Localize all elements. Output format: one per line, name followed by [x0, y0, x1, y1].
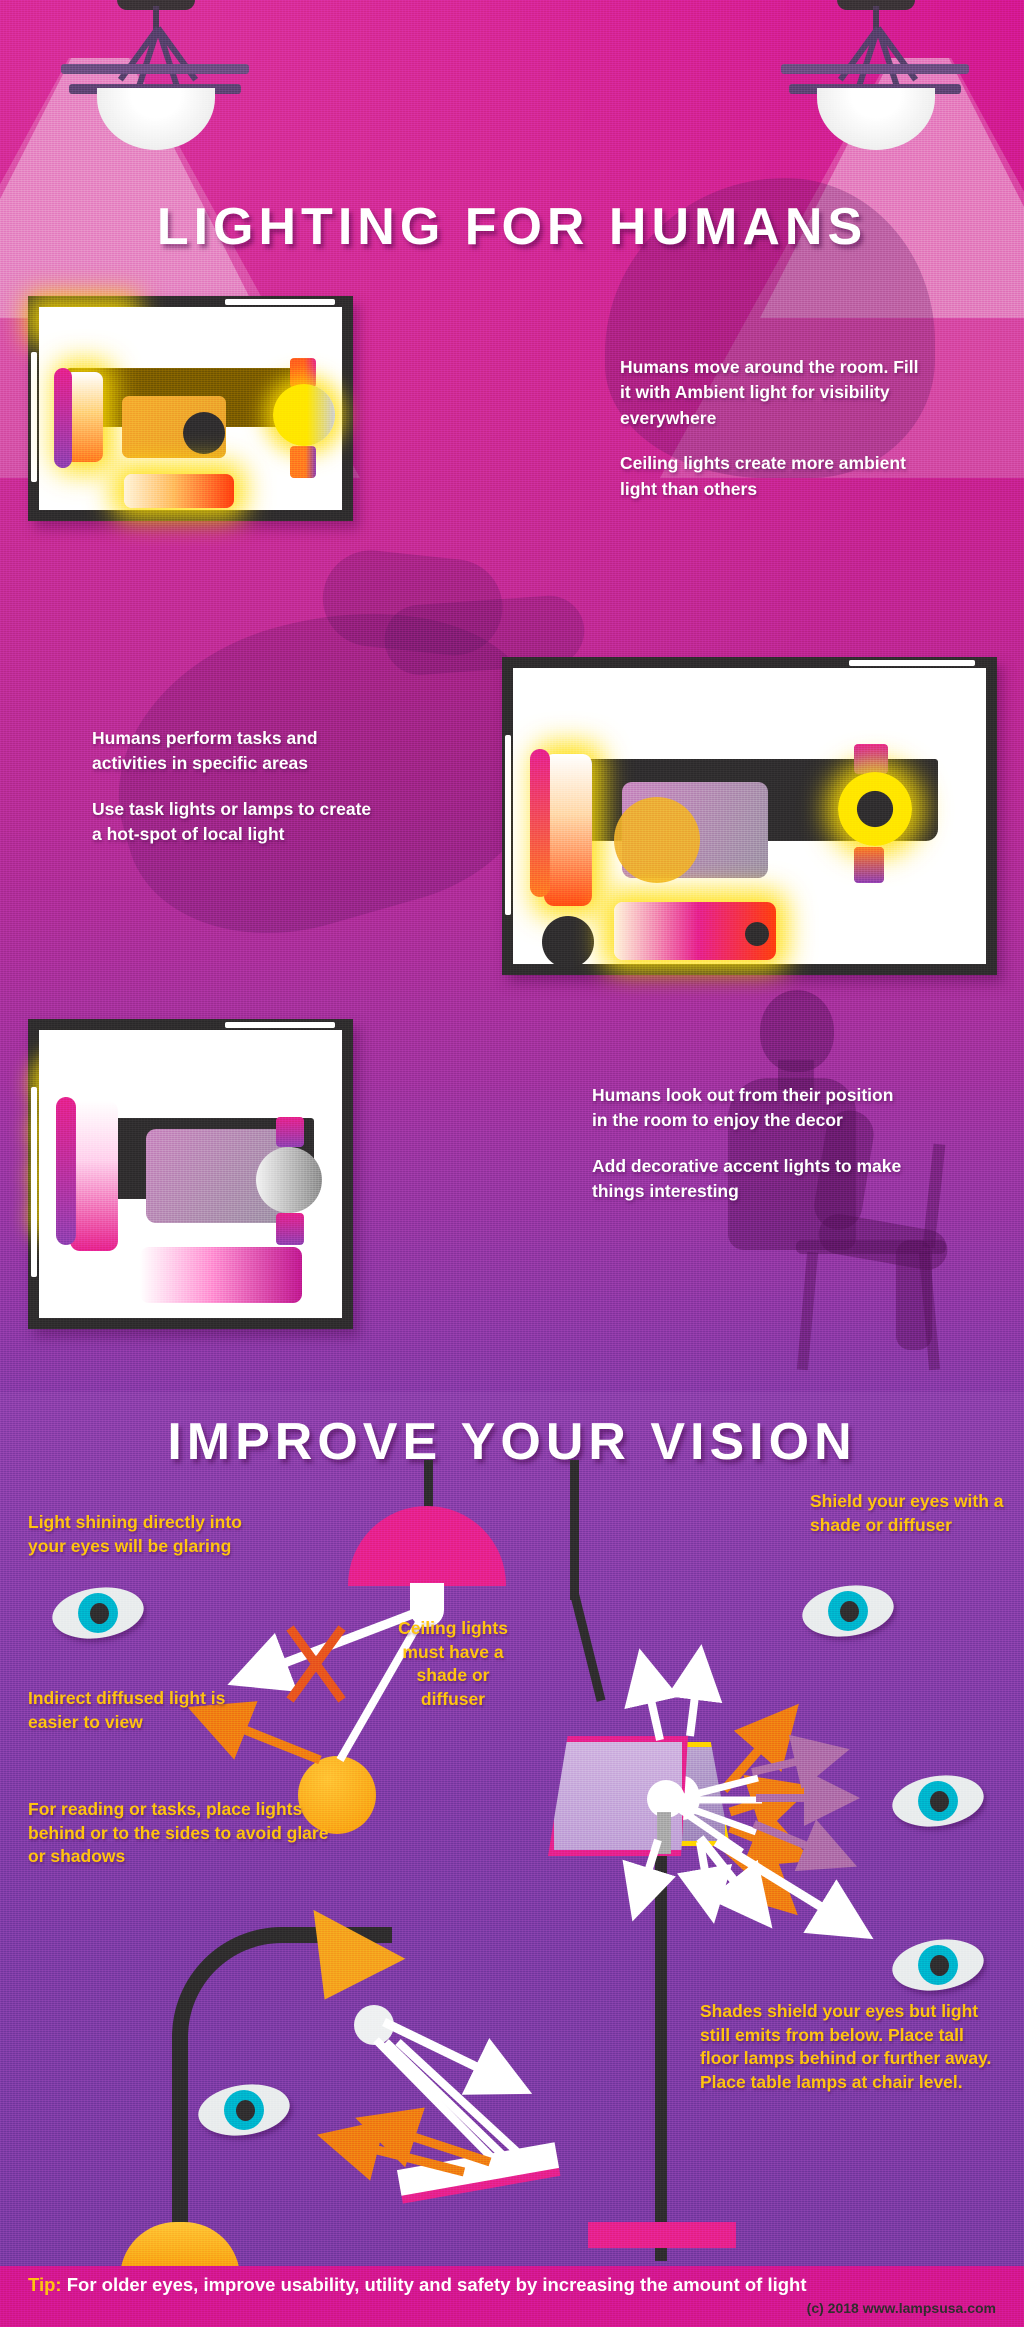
room1-door: [31, 352, 37, 482]
room3-sofa: [140, 1247, 302, 1303]
room-plan-task: [502, 657, 997, 975]
room2-chair-top: [854, 744, 888, 774]
room3-chair-bottom: [276, 1213, 304, 1245]
room1-coffee-table: [183, 412, 225, 454]
table-lamp-stem: [655, 1856, 667, 2261]
eye-glare: [52, 1588, 144, 1638]
room2-window: [849, 660, 975, 666]
chandelier-right-icon: [755, 0, 995, 112]
table-lamp-neck: [657, 1812, 671, 1854]
room2-task-lamp: [838, 772, 912, 846]
eye-desk-lamp: [198, 2085, 290, 2135]
room2-door: [505, 735, 511, 915]
note-ceiling-shade: Ceiling lights must have a shade or diff…: [390, 1617, 516, 1712]
arc-lamp-pole: [172, 2040, 188, 2236]
pendant-cord-right: [570, 1460, 579, 1600]
footer-copyright: (c) 2018 www.lampsusa.com: [807, 2300, 996, 2316]
room3-loveseat: [70, 1101, 118, 1251]
room1-window: [225, 299, 335, 305]
room2-chair-bottom: [854, 847, 884, 883]
text-block-task: Humans perform tasks and activities in s…: [92, 726, 382, 848]
desk-lamp-bulb: [354, 2005, 394, 2045]
footer-tip: Tip: For older eyes, improve usability, …: [28, 2274, 807, 2296]
eye-shielded: [802, 1586, 894, 1636]
room2-sofa-table: [745, 922, 769, 946]
room1-chair-bottom: [290, 446, 316, 478]
infographic-canvas: LIGHTING FOR HUMANS IMPROVE YOUR VISION: [0, 0, 1024, 2327]
room3-door: [31, 1087, 37, 1277]
text-block-accent: Humans look out from their position in t…: [592, 1083, 902, 1205]
task-line-1: Humans perform tasks and activities in s…: [92, 726, 382, 777]
text-block-ambient: Humans move around the room. Fill it wit…: [620, 355, 920, 502]
accent-line-1: Humans look out from their position in t…: [592, 1083, 902, 1134]
eye-table-lamp-upper: [892, 1776, 984, 1826]
room3-window: [225, 1022, 335, 1028]
task-line-2: Use task lights or lamps to create a hot…: [92, 797, 382, 848]
ambient-line-2: Ceiling lights create more ambient light…: [620, 451, 920, 502]
room2-side-table: [542, 916, 594, 968]
room2-loveseat-arm: [530, 749, 550, 897]
note-indirect: Indirect diffused light is easier to vie…: [28, 1687, 278, 1734]
footer-tip-text: For older eyes, improve usability, utili…: [62, 2274, 807, 2295]
room1-sofa: [124, 474, 234, 508]
room3-chair-top: [276, 1117, 304, 1147]
accent-line-2: Add decorative accent lights to make thi…: [592, 1154, 902, 1205]
eye-table-lamp-lower: [892, 1940, 984, 1990]
table-lamp-base: [588, 2222, 736, 2248]
room3-loveseat-arm: [56, 1097, 76, 1245]
chair-silhouette: [796, 1240, 956, 1370]
room2-task-light-pool: [614, 797, 700, 883]
room1-loveseat-arm: [54, 368, 72, 468]
note-glare: Light shining directly into your eyes wi…: [28, 1511, 278, 1558]
footer-tip-label: Tip:: [28, 2274, 62, 2295]
note-shield: Shield your eyes with a shade or diffuse…: [810, 1490, 1010, 1537]
room-plan-ambient: [28, 296, 353, 521]
room1-round-table: [273, 384, 335, 446]
chandelier-left-icon: [35, 0, 275, 112]
note-shades-emit: Shades shield your eyes but light still …: [700, 2000, 1000, 2095]
room3-round-table: [256, 1147, 322, 1213]
pendant-cord-left: [424, 1460, 433, 1512]
page-title-lighting-for-humans: LIGHTING FOR HUMANS: [0, 197, 1024, 257]
footer-bar: Tip: For older eyes, improve usability, …: [0, 2266, 1024, 2327]
room-plan-accent: [28, 1019, 353, 1329]
room2-loveseat: [544, 754, 592, 906]
note-reading: For reading or tasks, place lights behin…: [28, 1798, 348, 1869]
ambient-line-1: Humans move around the room. Fill it wit…: [620, 355, 920, 431]
page-title-improve-your-vision: IMPROVE YOUR VISION: [0, 1412, 1024, 1472]
